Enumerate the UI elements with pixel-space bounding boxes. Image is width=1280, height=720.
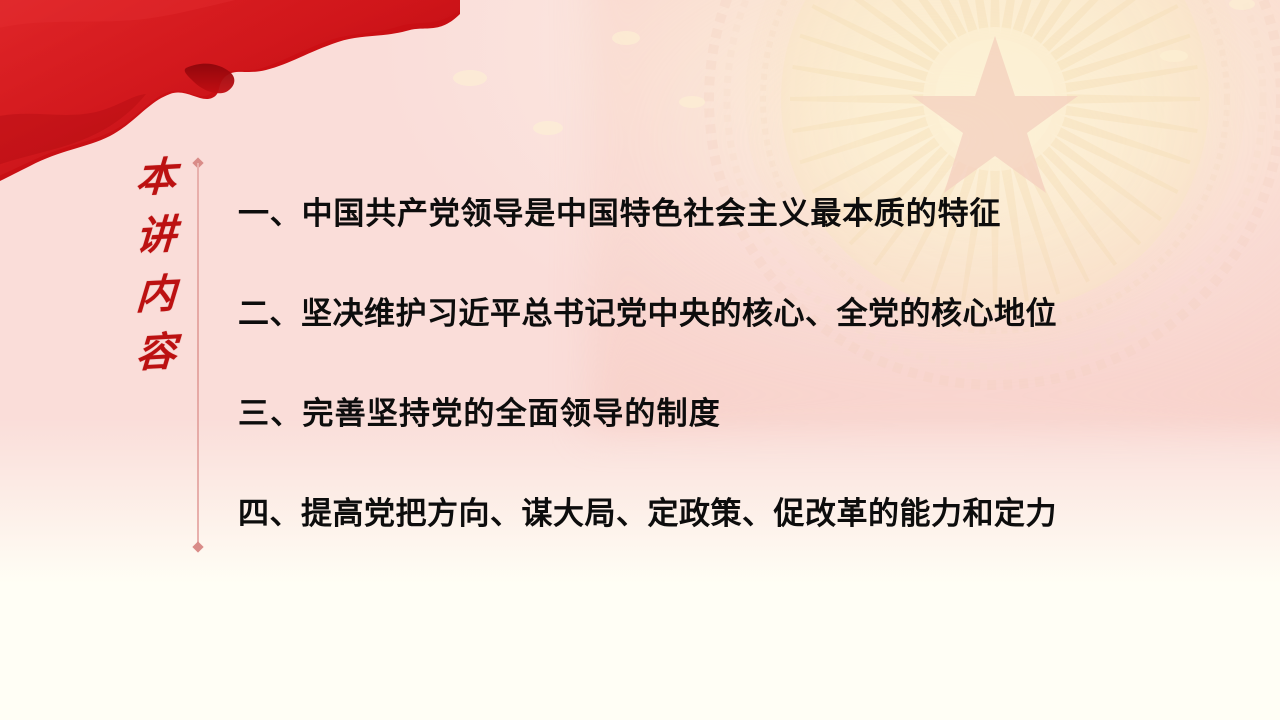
vertical-title-char-2: 讲 <box>135 215 177 257</box>
vertical-title-char-3: 内 <box>135 274 177 316</box>
agenda-item-3[interactable]: 三、完善坚持党的全面领导的制度 <box>238 360 1238 460</box>
agenda-item-3-label: 三、完善坚持党的全面领导的制度 <box>238 388 721 433</box>
divider-diamond-bottom-icon <box>192 541 203 552</box>
agenda-item-1[interactable]: 一、中国共产党领导是中国特色社会主义最本质的特征 <box>238 160 1238 260</box>
vertical-title-char-1: 本 <box>135 157 177 199</box>
agenda-item-4-label: 四、提高党把方向、谋大局、定政策、促改革的能力和定力 <box>238 488 1057 533</box>
divider-line <box>197 163 199 543</box>
vertical-section-title: 本 讲 内 容 <box>131 158 181 373</box>
agenda-list: 一、中国共产党领导是中国特色社会主义最本质的特征 二、坚决维护习近平总书记党中央… <box>238 160 1238 560</box>
agenda-item-2-label: 二、坚决维护习近平总书记党中央的核心、全党的核心地位 <box>238 288 1057 333</box>
agenda-item-4[interactable]: 四、提高党把方向、谋大局、定政策、促改革的能力和定力 <box>238 460 1238 560</box>
vertical-divider <box>193 155 203 551</box>
slide-canvas: 本 讲 内 容 一、中国共产党领导是中国特色社会主义最本质的特征 二、坚决维护习… <box>0 0 1280 720</box>
agenda-item-1-label: 一、中国共产党领导是中国特色社会主义最本质的特征 <box>238 188 1001 233</box>
agenda-item-2[interactable]: 二、坚决维护习近平总书记党中央的核心、全党的核心地位 <box>238 260 1238 360</box>
vertical-title-char-4: 容 <box>135 332 177 374</box>
